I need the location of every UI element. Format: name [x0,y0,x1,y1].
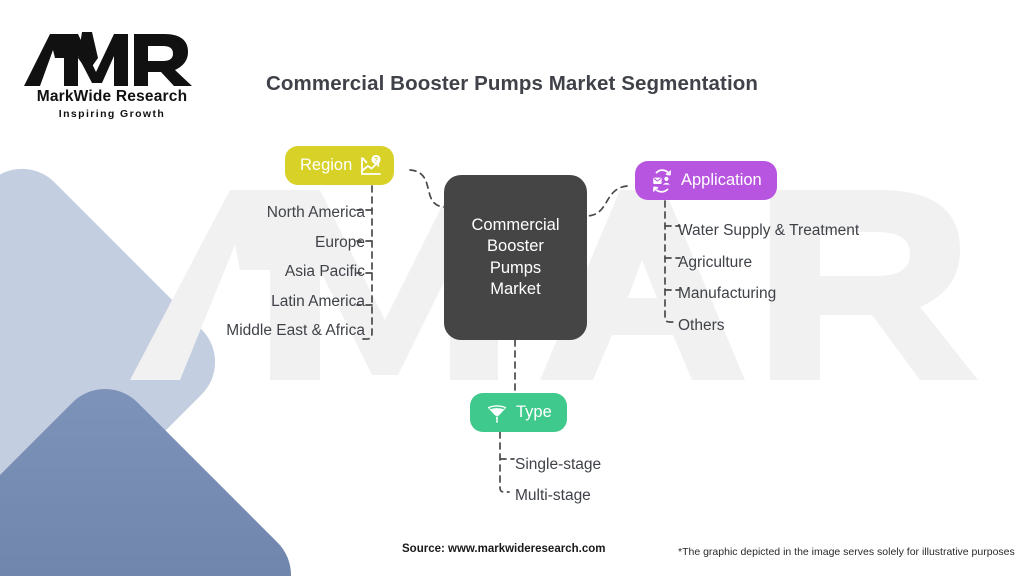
infographic-canvas: MarkWide Research Inspiring Growth Comme… [0,0,1024,576]
chart-question-icon: ? [359,154,383,178]
list-item: Middle East & Africa [90,316,365,346]
list-item: Europe [90,228,365,258]
source-text: Source: www.markwideresearch.com [402,543,605,555]
branch-items-type: Single-stage Multi-stage [515,449,601,511]
list-item: Multi-stage [515,480,601,511]
branch-badge-type[interactable]: Type [470,393,567,432]
list-item: Latin America [90,287,365,317]
center-line-4: Market [471,279,559,301]
branch-label-type: Type [516,403,552,422]
list-item: Others [678,310,859,342]
center-node: Commercial Booster Pumps Market [444,175,587,340]
list-item: Agriculture [678,247,859,279]
center-line-3: Pumps [471,258,559,280]
center-node-label: Commercial Booster Pumps Market [471,215,559,301]
branch-items-application: Water Supply & Treatment Agriculture Man… [678,215,859,341]
list-item: Single-stage [515,449,601,480]
list-item: Water Supply & Treatment [678,215,859,247]
center-line-1: Commercial [471,215,559,237]
list-item: Manufacturing [678,278,859,310]
funnel-drip-icon [485,401,509,425]
list-item: Asia Pacific [90,257,365,287]
branch-label-application: Application [681,171,762,190]
disclaimer-text: *The graphic depicted in the image serve… [678,546,1015,558]
branch-badge-region[interactable]: Region ? [285,146,394,185]
mail-user-sync-icon [650,169,674,193]
center-line-2: Booster [471,236,559,258]
list-item: North America [90,198,365,228]
branch-items-region: North America Europe Asia Pacific Latin … [90,198,365,346]
svg-text:?: ? [374,157,378,164]
branch-badge-application[interactable]: Application [635,161,777,200]
branch-label-region: Region [300,156,352,175]
